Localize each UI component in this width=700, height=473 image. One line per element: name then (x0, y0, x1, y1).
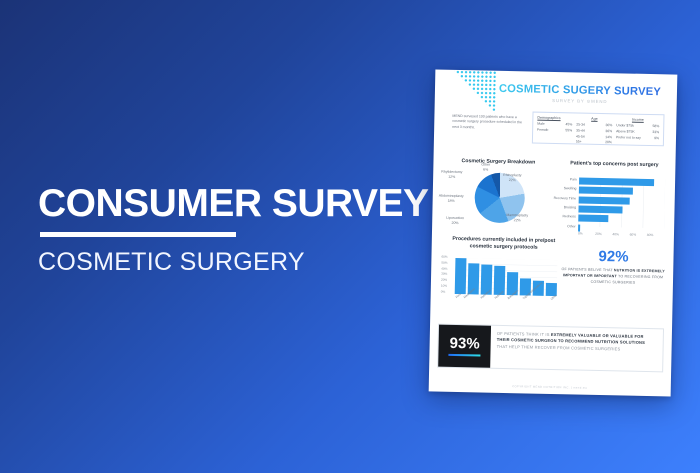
document-header: COSMETIC SUGERY SURVEY SURVEY BY ⊙MEND (489, 83, 671, 107)
bar-fill (579, 196, 630, 204)
demographics-column: Demographics Male 45% Female 55% (537, 116, 572, 141)
bar-label: Other (567, 224, 576, 228)
bar-plot-area: Pain Swelling Recovery Time Bruising (578, 178, 665, 229)
top-concerns-chart: Patient's top concerns post surgery Pain… (556, 160, 670, 238)
stat-92-number: 92% (561, 248, 665, 265)
document-page: COSMETIC SUGERY SURVEY SURVEY BY ⊙MEND M… (429, 70, 678, 397)
intro-paragraph: MEND surveyed 100 patients who have a co… (452, 114, 526, 132)
bar-row: Swelling (579, 187, 665, 196)
copyright-text: COPYRIGHT MEND NUTRITION INC. | mend.me (429, 383, 671, 391)
y-tick: 50% (441, 261, 447, 264)
row-label: Prefer not to say (616, 135, 641, 141)
bar-label: Pain (570, 177, 577, 181)
stat-93-number: 93% (449, 336, 479, 352)
x-axis-ticks: 0% 20% 40% 60% 80% (578, 232, 664, 238)
x-tick: 20% (595, 232, 612, 236)
bar-fill (578, 206, 622, 214)
pie-label-liposuction: Liposuction20% (446, 216, 464, 226)
row-value: 20% (601, 140, 612, 146)
row-value: 55% (561, 128, 572, 134)
gradient-accent-bar (448, 354, 480, 357)
stat-93-number-panel: 93% (438, 325, 491, 368)
bar-label: Redness (562, 215, 575, 219)
age-column: Age 25-34 30% 35-44 36% 45-54 14% (576, 116, 612, 141)
x-tick: 60% (630, 233, 647, 237)
pie-chart: Cosmetic Surgery Breakdown RhinoplastyRh… (440, 158, 556, 234)
table-row: Female 55% (537, 128, 572, 134)
stat-93-block: 93% OF PATIENTS THINK IT IS EXTREMELY VA… (437, 324, 664, 373)
y-tick: 20% (441, 279, 447, 282)
column-bar (455, 258, 467, 294)
y-tick: 60% (441, 256, 447, 259)
x-tick: 40% (612, 232, 629, 236)
demographics-heading: Demographics (537, 116, 572, 121)
table-row: Prefer not to say 9% (616, 135, 659, 142)
pie-label-other: Other6% (481, 162, 490, 172)
page-title: CONSUMER SURVEY (38, 184, 438, 223)
stat-93-text: OF PATIENTS THINK IT IS EXTREMELY VALUAB… (490, 326, 663, 372)
bar-fill (579, 178, 654, 187)
bar-label: Recovery Time (554, 196, 577, 201)
row-value: 9% (650, 136, 659, 142)
x-tick: 0% (578, 232, 595, 236)
bar-fill (579, 187, 633, 195)
y-tick: 40% (441, 267, 447, 270)
row-label: Female (537, 128, 548, 134)
document-byline: SURVEY BY ⊙MEND (489, 97, 671, 107)
bar-row: Pain (579, 178, 665, 187)
bar-fill (578, 215, 608, 223)
hero-block: CONSUMER SURVEY COSMETIC SURGERY (38, 184, 438, 275)
pie-label-rhytidectomy: Rhytidectomy12% (441, 170, 462, 180)
income-heading: Income (616, 117, 659, 122)
pie-label-mammaplasty: Mammaplasty22% (506, 213, 528, 223)
pie-label-abdominoplasty: Abdominoplasty18% (439, 194, 464, 204)
table-row: 55+ 20% (576, 140, 612, 146)
y-tick: 10% (441, 285, 447, 288)
x-tick: 80% (647, 233, 664, 237)
bar-label: Swelling (564, 187, 577, 191)
document-title: COSMETIC SUGERY SURVEY (489, 83, 671, 99)
bar-row: Recovery Time (579, 196, 665, 205)
protocols-title: Procedures currently included in pre/pos… (448, 236, 560, 252)
pie-label-rhinoplasty: RhinoplastyRhinoplasty 22%22% (503, 173, 521, 183)
page-subtitle: COSMETIC SURGERY (38, 250, 438, 275)
age-heading: Age (576, 116, 612, 121)
stat-92-block: 92% OF PATIENTS BELIVE THAT NUTRITION IS… (561, 248, 666, 286)
bar-label: Bruising (564, 205, 576, 209)
stat-92-text-before: OF PATIENTS BELIVE THAT (561, 267, 613, 272)
stat-92-text: OF PATIENTS BELIVE THAT NUTRITION IS EXT… (561, 267, 665, 286)
demographics-panel: Demographics Male 45% Female 55% Age (532, 112, 665, 147)
x-axis-labels: Rest Medication Hydration Nutrition Band… (455, 296, 557, 302)
bar-row: Bruising (578, 206, 664, 215)
infographic-document[interactable]: COSMETIC SUGERY SURVEY SURVEY BY ⊙MEND M… (429, 70, 678, 397)
y-tick: 0% (441, 291, 447, 294)
top-concerns-title: Patient's top concerns post surgery (563, 160, 665, 169)
bar-row: Redness (578, 215, 664, 224)
bar-fill (578, 224, 580, 231)
stat-93-text-after: THAT HELP THEM RECOVER FROM COSMETIC SUR… (497, 344, 621, 352)
y-tick: 30% (441, 273, 447, 276)
y-axis-ticks: 60% 50% 40% 30% 20% 10% 0% (441, 256, 448, 294)
protocols-chart: Procedures currently included in pre/pos… (438, 236, 562, 323)
stat-93-text-before: OF PATIENTS THINK IT IS (497, 331, 551, 337)
row-label: 55+ (576, 140, 582, 146)
slide-canvas: CONSUMER SURVEY COSMETIC SURGERY COSMETI… (0, 0, 700, 473)
pie-chart-title: Cosmetic Surgery Breakdown (441, 158, 555, 166)
title-divider (40, 232, 236, 237)
income-column: Income Under $75k 58% Above $75K 33% Pre… (616, 117, 659, 142)
